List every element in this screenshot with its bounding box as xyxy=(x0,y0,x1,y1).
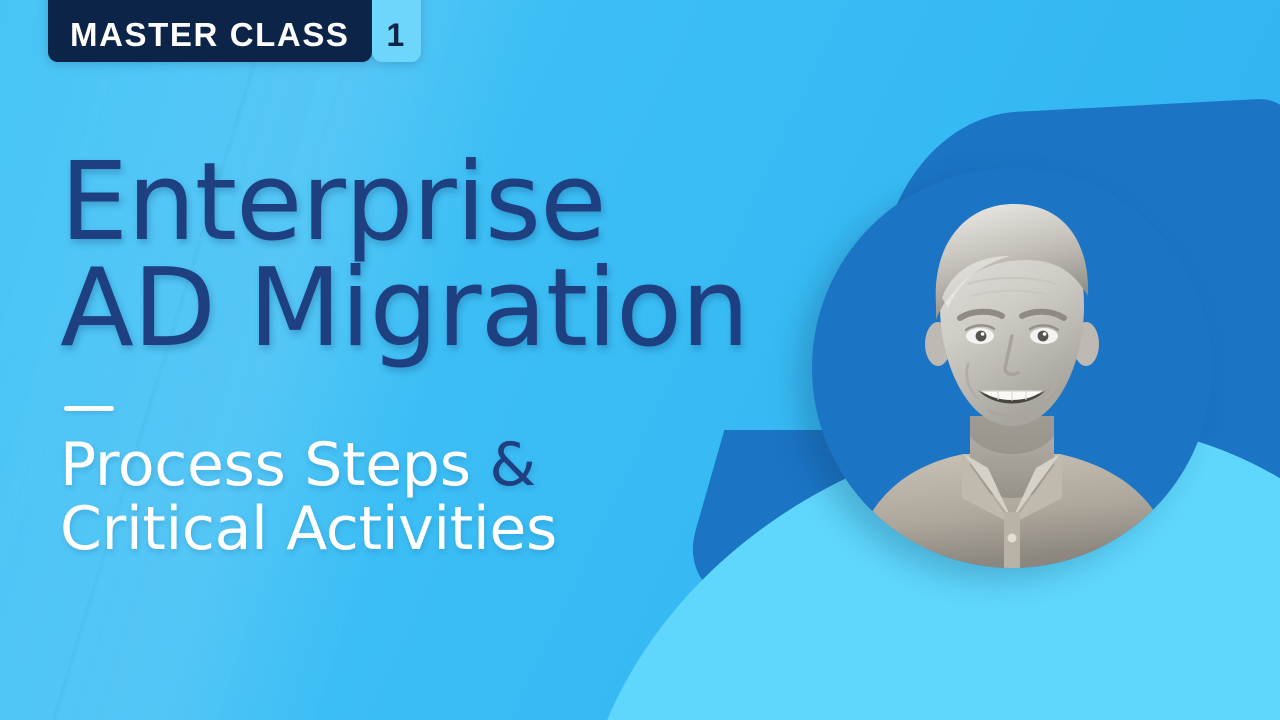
page-title: Enterprise AD Migration xyxy=(60,150,920,362)
badge-number-block: 1 xyxy=(372,0,422,62)
title-line-2: AD Migration xyxy=(60,256,920,362)
page-subtitle: Process Steps & Critical Activities xyxy=(60,433,920,561)
masterclass-title-slide: MASTER CLASS 1 Enterprise AD Migration P… xyxy=(0,0,1280,720)
divider-rule xyxy=(64,406,114,411)
title-copy-block: Enterprise AD Migration Process Steps & … xyxy=(60,150,920,561)
subtitle-line-1: Process Steps xyxy=(60,430,471,500)
subtitle-ampersand: & xyxy=(471,430,536,500)
badge-number: 1 xyxy=(387,19,405,51)
master-class-badge: MASTER CLASS 1 xyxy=(48,0,421,62)
subtitle-line-2: Critical Activities xyxy=(60,497,920,561)
badge-label-block: MASTER CLASS xyxy=(48,0,372,62)
badge-label: MASTER CLASS xyxy=(70,18,350,51)
light-cyan-wave-shape-secondary xyxy=(620,560,1280,720)
